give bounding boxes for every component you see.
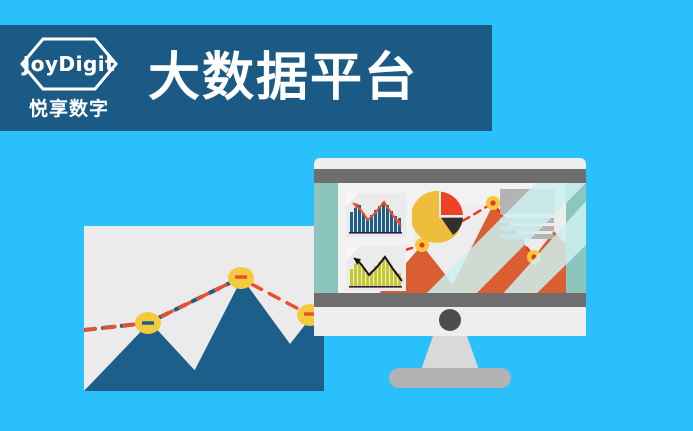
page-title: 大数据平台	[148, 52, 418, 104]
logo-wordmark: JoyDigit	[23, 52, 115, 76]
screen-right-band	[566, 183, 586, 306]
dashboard	[338, 183, 566, 306]
pie-slice-red	[441, 192, 463, 215]
monitor-bottom-bezel	[314, 293, 586, 307]
header-banner: JoyDigit 悦享数字 大数据平台	[0, 25, 492, 131]
text-line	[500, 234, 554, 239]
trend-line-red	[84, 278, 324, 330]
content-placeholder	[500, 189, 554, 237]
hexagon-icon: JoyDigit	[17, 36, 121, 92]
brand-logo: JoyDigit 悦享数字	[14, 35, 124, 121]
pie-chart	[412, 189, 468, 245]
screen-left-band	[314, 183, 338, 306]
poster-canvas: JoyDigit 悦享数字 大数据平台	[0, 0, 693, 431]
monitor-top-bezel	[314, 169, 586, 183]
trend-line-blue	[84, 278, 240, 330]
image-placeholder	[500, 189, 554, 214]
monitor-screen	[314, 183, 586, 306]
text-line	[500, 226, 554, 231]
monitor-base	[389, 368, 511, 388]
monitor-stand	[421, 336, 479, 370]
bar-line-chart-blue	[346, 193, 406, 237]
bar-line-chart-yellow	[346, 247, 406, 291]
power-button[interactable]	[439, 309, 461, 331]
monitor	[314, 158, 586, 336]
text-line	[500, 218, 554, 223]
mountain-area-chart	[84, 226, 324, 391]
logo-chinese-name: 悦享数字	[29, 94, 109, 121]
